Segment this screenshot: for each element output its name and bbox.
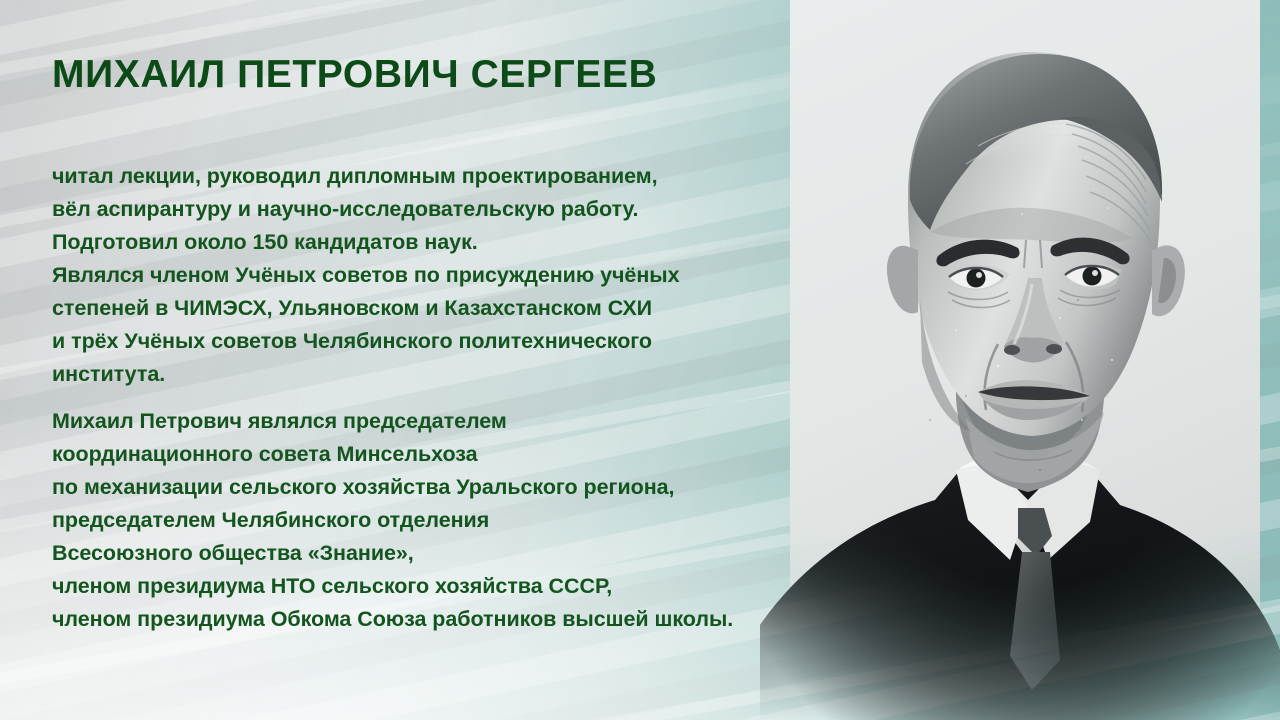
text-line: и трёх Учёных советов Челябинского полит… — [52, 325, 679, 358]
text-line: института. — [52, 358, 679, 391]
portrait-photo — [760, 0, 1280, 720]
text-line: вёл аспирантуру и научно-исследовательск… — [52, 193, 679, 226]
text-line: членом президиума Обкома Союза работнико… — [52, 603, 733, 636]
portrait-illustration — [760, 0, 1280, 720]
text-line: Михаил Петрович являлся председателем — [52, 405, 733, 438]
biography-paragraph-1: читал лекции, руководил дипломным проект… — [52, 160, 679, 391]
text-line: Являлся членом Учёных советов по присужд… — [52, 259, 679, 292]
slide-text-content: МИХАИЛ ПЕТРОВИЧ СЕРГЕЕВ читал лекции, ру… — [0, 0, 820, 720]
text-line: по механизации сельского хозяйства Ураль… — [52, 471, 733, 504]
text-line: степеней в ЧИМЭСХ, Ульяновском и Казахст… — [52, 292, 679, 325]
text-line: координационного совета Минсельхоза — [52, 438, 733, 471]
page-title: МИХАИЛ ПЕТРОВИЧ СЕРГЕЕВ — [52, 54, 657, 97]
text-line: членом президиума НТО сельского хозяйств… — [52, 570, 733, 603]
text-line: председателем Челябинского отделения — [52, 504, 733, 537]
presentation-slide: МИХАИЛ ПЕТРОВИЧ СЕРГЕЕВ читал лекции, ру… — [0, 0, 1280, 720]
text-line: Подготовил около 150 кандидатов наук. — [52, 226, 679, 259]
biography-paragraph-2: Михаил Петрович являлся председателем ко… — [52, 405, 733, 636]
text-line: читал лекции, руководил дипломным проект… — [52, 160, 679, 193]
text-line: Всесоюзного общества «Знание», — [52, 537, 733, 570]
